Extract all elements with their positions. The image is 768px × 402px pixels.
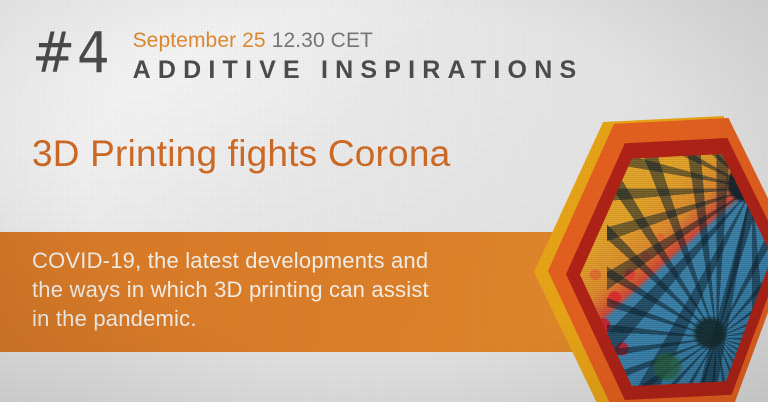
header-text-group: September 2512.30 CET ADDITIVE INSPIRATI… [133, 26, 584, 84]
description-line: the ways in which 3D printing can assist [32, 275, 532, 304]
description-text: COVID-19, the latest developments and th… [32, 246, 532, 333]
description-line: in the pandemic. [32, 304, 532, 333]
description-line: COVID-19, the latest developments and [32, 246, 532, 275]
event-dateline: September 2512.30 CET [133, 30, 584, 52]
promo-poster: #4 September 2512.30 CET ADDITIVE INSPIR… [0, 0, 768, 402]
series-name: ADDITIVE INSPIRATIONS [133, 57, 584, 84]
page-title: 3D Printing fights Corona [32, 133, 450, 175]
event-time: 12.30 CET [272, 29, 373, 52]
poster-header: #4 September 2512.30 CET ADDITIVE INSPIR… [32, 26, 583, 84]
issue-number: #4 [32, 26, 112, 82]
hexagon-graphic [520, 104, 768, 402]
event-date: September 25 [133, 29, 266, 52]
